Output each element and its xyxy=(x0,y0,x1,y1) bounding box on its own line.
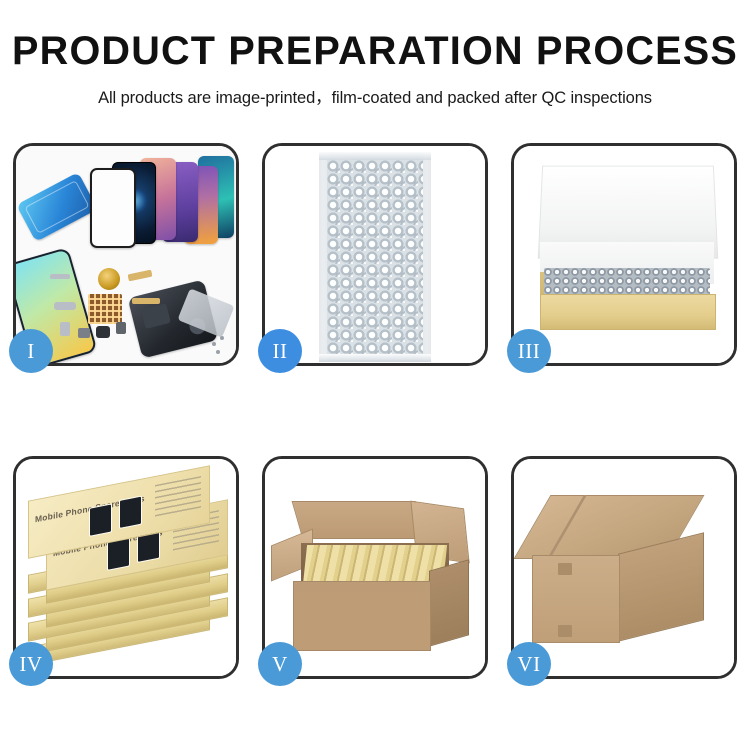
carton-hand-hole-top xyxy=(558,563,572,575)
carton-front-panel xyxy=(293,581,431,651)
step-image-inner-box-packing xyxy=(514,146,734,363)
small-part-4 xyxy=(78,328,90,338)
flexible-screen-image xyxy=(16,172,98,242)
step-badge-4: IV xyxy=(9,642,53,686)
step-image-sealed-carton xyxy=(514,459,734,676)
box-stack-scene: Mobile Phone Spare Parts Mobile Phone Sp… xyxy=(16,459,236,676)
process-step-grid: I II III xyxy=(13,143,737,679)
carton-side-panel xyxy=(429,559,469,646)
page-title: PRODUCT PREPARATION PROCESS xyxy=(4,30,747,72)
phone-parts-scene xyxy=(16,146,236,363)
step-image-bubble-wrap-pouch xyxy=(265,146,485,363)
process-step-panel-4: Mobile Phone Spare Parts Mobile Phone Sp… xyxy=(13,456,239,679)
step-image-labelled-box-stack: Mobile Phone Spare Parts Mobile Phone Sp… xyxy=(16,459,236,676)
step-badge-3: III xyxy=(507,329,551,373)
page-subtitle: All products are image-printed，film-coat… xyxy=(0,84,750,108)
lid-screen-image-1 xyxy=(89,503,112,536)
step-badge-6: VI xyxy=(507,642,551,686)
step-badge-1: I xyxy=(9,329,53,373)
process-step-panel-3: III xyxy=(511,143,737,366)
process-step-panel-1: I xyxy=(13,143,239,366)
page-header: PRODUCT PREPARATION PROCESS All products… xyxy=(0,0,750,108)
box-front-wall xyxy=(540,294,716,330)
screw-3 xyxy=(216,350,220,354)
process-step-panel-6: VI xyxy=(511,456,737,679)
step-badge-5: V xyxy=(258,642,302,686)
lid-spec-lines-1 xyxy=(155,476,201,517)
small-part-1 xyxy=(50,274,70,279)
process-step-panel-2: II xyxy=(262,143,488,366)
bubble-texture xyxy=(327,160,423,354)
step-badge-2: II xyxy=(258,329,302,373)
step-image-products-overview xyxy=(16,146,236,363)
small-part-2 xyxy=(54,302,76,310)
open-carton-scene xyxy=(265,459,485,676)
bubble-wrap-scene xyxy=(265,146,485,363)
screw-1 xyxy=(212,342,216,346)
phone-white-frame-image xyxy=(90,168,136,248)
flex-cable-1 xyxy=(128,270,153,282)
lid-screen-image-2 xyxy=(119,496,142,529)
screw-2 xyxy=(220,336,224,340)
carton-front-face xyxy=(532,555,620,643)
open-inner-box-scene xyxy=(514,146,734,363)
step-image-carton-loading xyxy=(265,459,485,676)
flex-cable-2 xyxy=(132,298,160,304)
small-part-5 xyxy=(96,326,110,338)
pouch-top-seal xyxy=(319,152,431,160)
pouch-bottom-seal xyxy=(319,354,431,362)
carton-hand-hole-bottom xyxy=(558,625,572,637)
process-step-panel-5: V xyxy=(262,456,488,679)
sealed-carton-scene xyxy=(514,459,734,676)
small-part-3 xyxy=(60,322,70,336)
chip-array-part xyxy=(88,294,122,324)
small-part-6 xyxy=(116,322,126,334)
packed-inner-boxes xyxy=(303,545,447,585)
wireless-coil-part xyxy=(98,268,120,290)
bubble-wrap-pouch-image xyxy=(319,152,431,362)
